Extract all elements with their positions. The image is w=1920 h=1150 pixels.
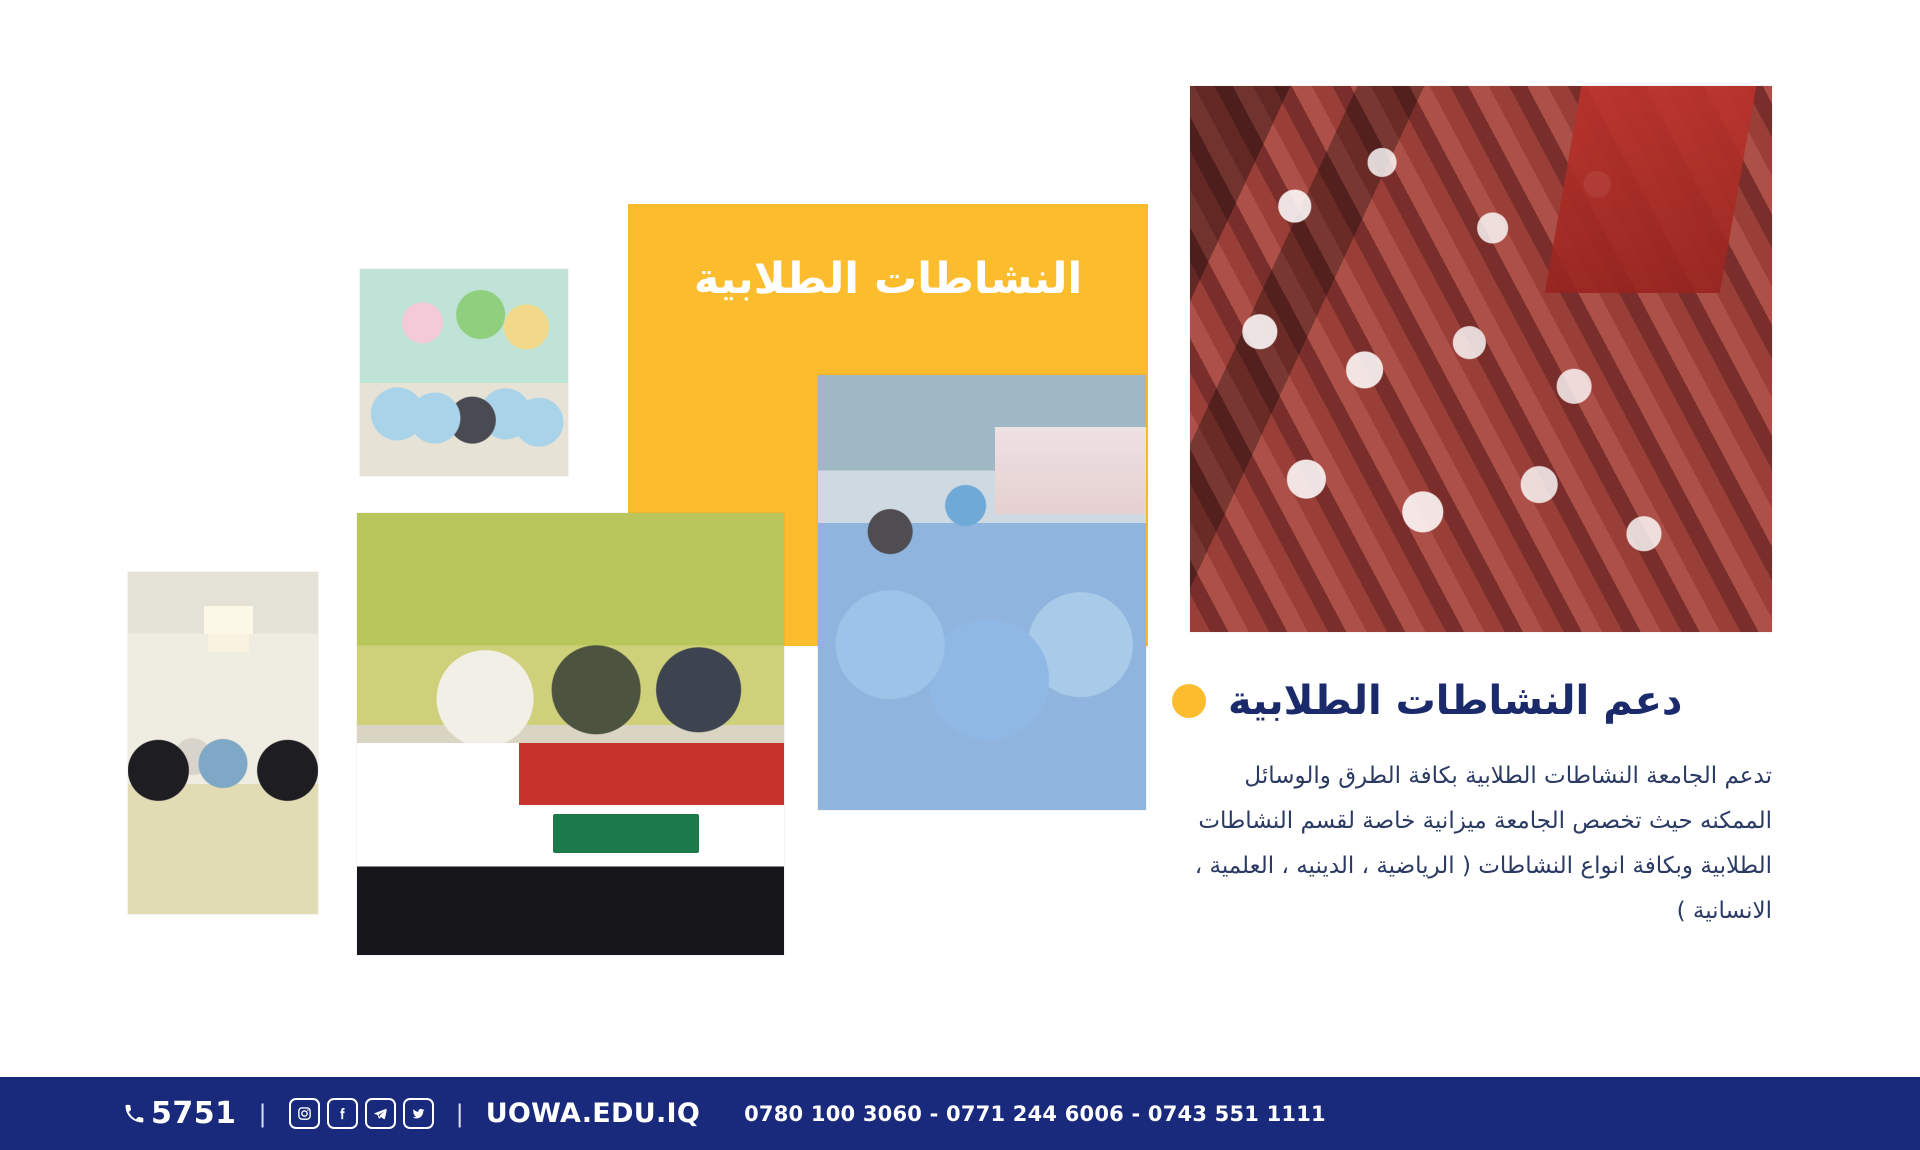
childrens-ward-photo <box>360 269 568 476</box>
karate-medals-photo <box>357 513 784 955</box>
content-column: دعم النشاطات الطلابية تدعم الجامعة النشا… <box>1172 676 1772 933</box>
section-paragraph: تدعم الجامعة النشاطات الطلابية بكافة الط… <box>1172 754 1772 933</box>
banner-title: النشاطات الطلابية <box>628 252 1148 308</box>
footer-phone-numbers: 0780 100 3060 - 0771 244 6006 - 0743 551… <box>744 1102 1326 1126</box>
twitter-icon[interactable] <box>403 1098 434 1129</box>
footer-social-links <box>289 1098 434 1129</box>
slide-root: النشاطات الطلابية دعم النشاطات الطلابية … <box>0 0 1920 1150</box>
bullet-dot-icon <box>1172 684 1206 718</box>
crowd-ceremony-photo-image <box>1190 86 1772 632</box>
medical-campaign-photo-image <box>818 375 1146 810</box>
handset-icon <box>124 1104 144 1124</box>
crowd-ceremony-photo <box>1190 86 1772 632</box>
facebook-icon[interactable] <box>327 1098 358 1129</box>
section-heading: دعم النشاطات الطلابية <box>1228 676 1682 726</box>
hospital-training-photo-image <box>128 572 318 914</box>
section-heading-row: دعم النشاطات الطلابية <box>1172 676 1772 726</box>
footer-separator-1: | <box>255 1100 271 1128</box>
footer-content: 5751 | <box>124 1096 1326 1131</box>
footer-website[interactable]: UOWA.EDU.IQ <box>486 1098 700 1129</box>
childrens-ward-photo-image <box>360 269 568 476</box>
footer-bar: 5751 | <box>0 1077 1920 1150</box>
telegram-icon[interactable] <box>365 1098 396 1129</box>
hospital-training-photo <box>128 572 318 914</box>
karate-medals-photo-image <box>357 513 784 955</box>
footer-phone-short[interactable]: 5751 <box>124 1096 237 1131</box>
footer-separator-2: | <box>452 1100 468 1128</box>
medical-campaign-photo <box>818 375 1146 810</box>
footer-phone-number: 5751 <box>151 1096 237 1131</box>
instagram-icon[interactable] <box>289 1098 320 1129</box>
